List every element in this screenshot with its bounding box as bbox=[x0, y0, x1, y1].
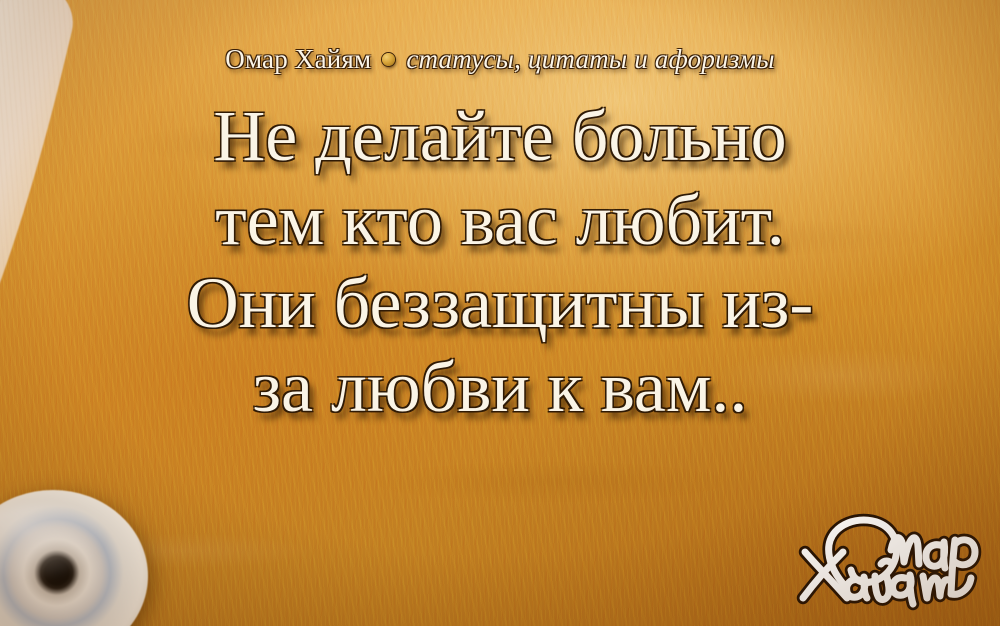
quote-card-canvas: Омар Хайям статусы, цитаты и афоризмы Не… bbox=[0, 0, 1000, 626]
quote-line-3: Они беззащитны из- bbox=[187, 262, 814, 346]
site-title-brand: Омар Хайям bbox=[225, 44, 371, 75]
quote-line-4: за любви к вам.. bbox=[253, 346, 748, 430]
quote-line-2: тем кто вас любит. bbox=[215, 179, 784, 263]
bullet-dot-icon bbox=[382, 53, 395, 66]
quote-block: Не делайте больно тем кто вас любит. Они… bbox=[0, 95, 1000, 429]
site-title-tagline: статусы, цитаты и афоризмы bbox=[406, 44, 774, 75]
quote-line-1: Не делайте больно bbox=[213, 95, 786, 179]
site-title: Омар Хайям статусы, цитаты и афоризмы bbox=[225, 44, 774, 75]
card-content: Омар Хайям статусы, цитаты и афоризмы Не… bbox=[0, 0, 1000, 626]
